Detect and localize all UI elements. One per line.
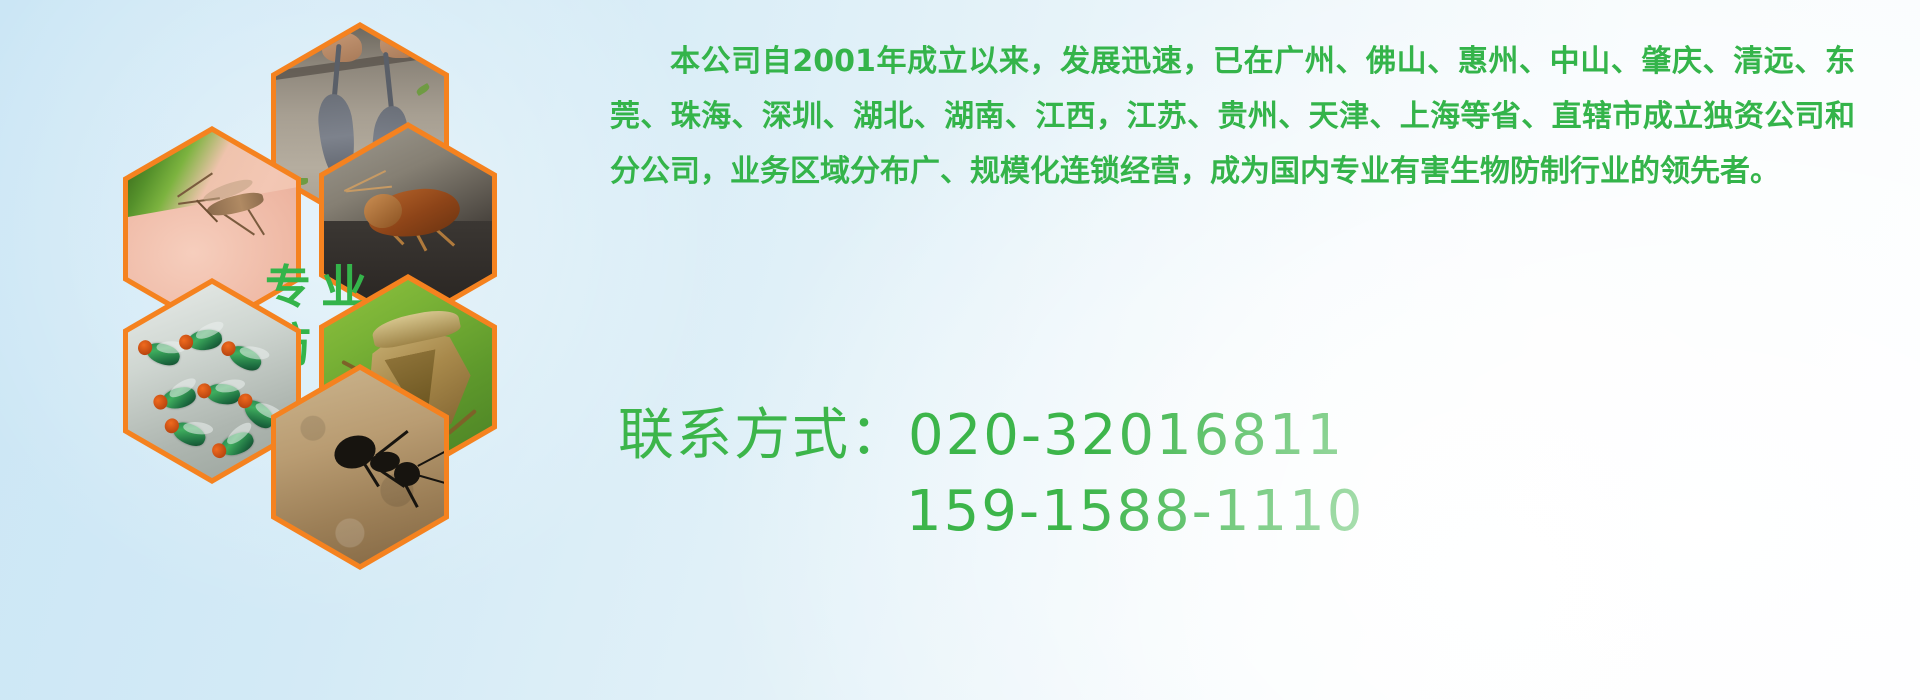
flies-photo (128, 284, 296, 478)
pest-control-banner: 专业 防治 (0, 0, 1920, 700)
ant-photo (276, 370, 444, 564)
contact-block: 联系方式：020-32016811 159-1588-1110 (618, 398, 1798, 550)
ant-illustration (276, 370, 444, 564)
company-intro-block: 本公司自2001年成立以来，发展迅速，已在广州、佛山、惠州、中山、肇庆、清远、东… (610, 34, 1890, 199)
hexagon-photo-cluster: 专业 防治 (85, 8, 585, 568)
company-intro-paragraph: 本公司自2001年成立以来，发展迅速，已在广州、佛山、惠州、中山、肇庆、清远、东… (610, 34, 1855, 199)
contact-landline-line[interactable]: 联系方式：020-32016811 (618, 398, 1798, 474)
flies-illustration (128, 284, 296, 478)
contact-mobile-line[interactable]: 159-1588-1110 (618, 474, 1798, 550)
